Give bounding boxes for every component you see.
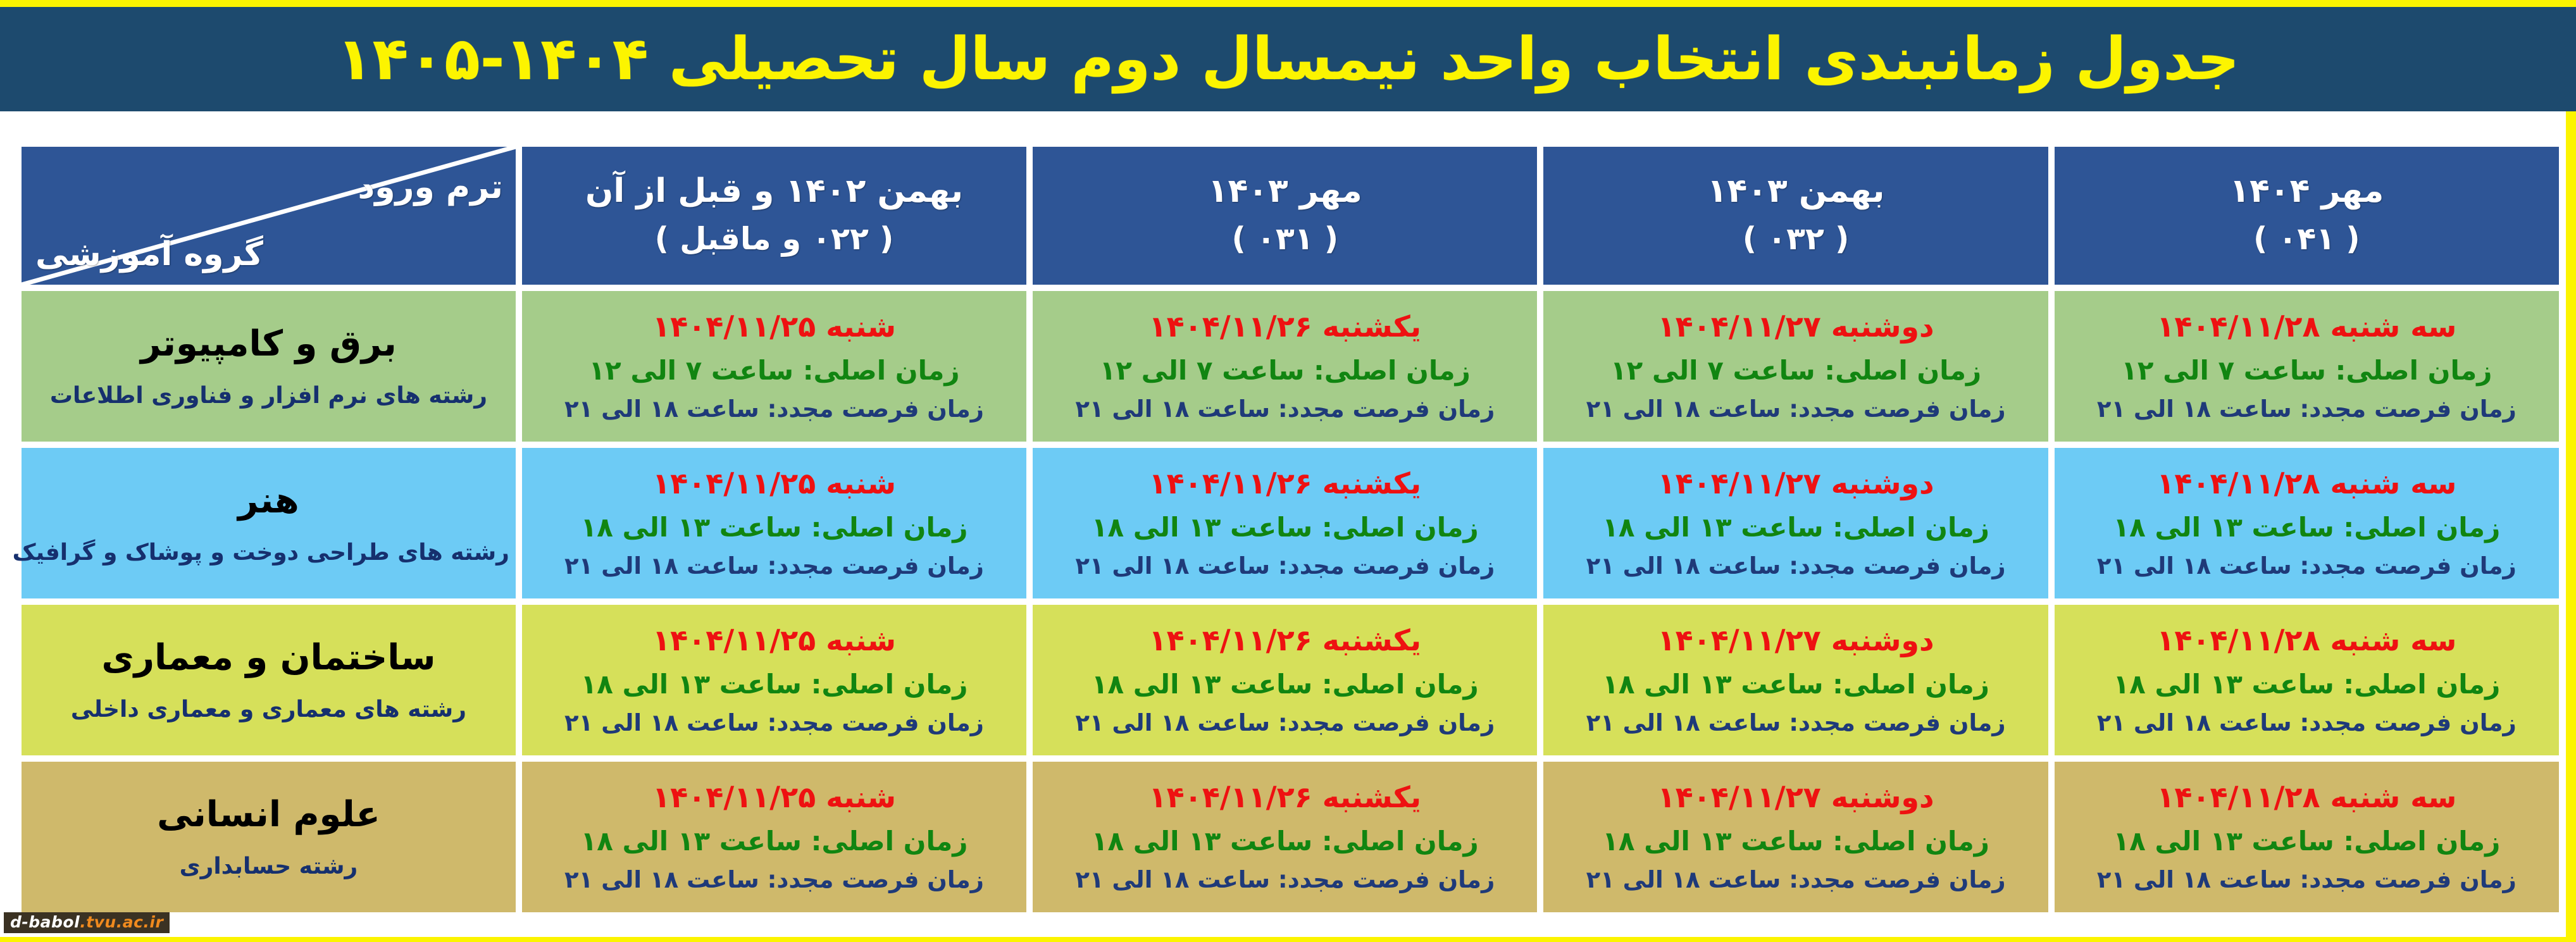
watermark-secondary: .tvu.ac.ir — [80, 913, 163, 931]
column-header-bahman-1402-and-before: بهمن ۱۴۰۲ و قبل از آن ( ۰۲۲ و ماقبل ) — [522, 147, 1026, 285]
row-label-subtitle: رشته های طراحی دوخت و پوشاک و گرافیک — [28, 538, 509, 567]
cell-date: شنبه ۱۴۰۴/۱۱/۲۵ — [527, 308, 1021, 346]
row-label-title: هنر — [28, 480, 509, 522]
table-row: سه شنبه ۱۴۰۴/۱۱/۲۸ زمان اصلی: ساعت ۱۳ ال… — [22, 448, 2559, 598]
row-label-electrical-computer: برق و کامپیوتر رشته های نرم افزار و فناو… — [22, 291, 516, 442]
schedule-table-container: مهر ۱۴۰۴ ( ۰۴۱ ) بهمن ۱۴۰۳ ( ۰۳۲ ) مهر ۱… — [15, 140, 2565, 936]
schedule-cell[interactable]: یکشنبه ۱۴۰۴/۱۱/۲۶ زمان اصلی: ساعت ۱۳ الی… — [1033, 762, 1537, 912]
row-label-subtitle: رشته حسابداری — [28, 852, 509, 881]
row-label-title: برق و کامپیوتر — [28, 323, 509, 365]
column-header-mehr-1403: مهر ۱۴۰۳ ( ۰۳۱ ) — [1033, 147, 1537, 285]
schedule-cell[interactable]: سه شنبه ۱۴۰۴/۱۱/۲۸ زمان اصلی: ساعت ۱۳ ال… — [2055, 448, 2559, 598]
cell-retry-time: زمان فرصت مجدد: ساعت ۱۸ الی ۲۱ — [2060, 708, 2554, 738]
row-label-subtitle: رشته های نرم افزار و فناوری اطلاعات — [28, 381, 509, 410]
cell-retry-time: زمان فرصت مجدد: ساعت ۱۸ الی ۲۱ — [1548, 708, 2043, 738]
cell-main-time: زمان اصلی: ساعت ۱۳ الی ۱۸ — [1038, 511, 1532, 545]
watermark-primary: d-babol — [10, 913, 80, 931]
cell-date: یکشنبه ۱۴۰۴/۱۱/۲۶ — [1038, 465, 1532, 503]
schedule-cell[interactable]: سه شنبه ۱۴۰۴/۱۱/۲۸ زمان اصلی: ساعت ۱۳ ال… — [2055, 762, 2559, 912]
cell-main-time: زمان اصلی: ساعت ۱۳ الی ۱۸ — [527, 824, 1021, 859]
corner-header-cell: ترم ورود گروه آموزشی — [22, 147, 516, 285]
table-body: سه شنبه ۱۴۰۴/۱۱/۲۸ زمان اصلی: ساعت ۷ الی… — [22, 291, 2559, 912]
cell-retry-time: زمان فرصت مجدد: ساعت ۱۸ الی ۲۱ — [527, 708, 1021, 738]
cell-main-time: زمان اصلی: ساعت ۷ الی ۱۲ — [1038, 354, 1532, 388]
corner-label-department: گروه آموزشی — [35, 235, 263, 273]
cell-retry-time: زمان فرصت مجدد: ساعت ۱۸ الی ۲۱ — [527, 865, 1021, 895]
row-label-construction-architecture: ساختمان و معماری رشته های معماری و معمار… — [22, 605, 516, 755]
cell-retry-time: زمان فرصت مجدد: ساعت ۱۸ الی ۲۱ — [1038, 865, 1532, 895]
column-header-main: بهمن ۱۴۰۳ — [1543, 171, 2048, 212]
cell-main-time: زمان اصلی: ساعت ۱۳ الی ۱۸ — [2060, 824, 2554, 859]
schedule-cell[interactable]: شنبه ۱۴۰۴/۱۱/۲۵ زمان اصلی: ساعت ۷ الی ۱۲… — [522, 291, 1026, 442]
corner-label-entry-term: ترم ورود — [358, 168, 503, 206]
cell-date: سه شنبه ۱۴۰۴/۱۱/۲۸ — [2060, 779, 2554, 817]
table-header: مهر ۱۴۰۴ ( ۰۴۱ ) بهمن ۱۴۰۳ ( ۰۳۲ ) مهر ۱… — [22, 147, 2559, 285]
right-accent-strip — [2566, 7, 2576, 942]
cell-date: یکشنبه ۱۴۰۴/۱۱/۲۶ — [1038, 622, 1532, 660]
cell-retry-time: زمان فرصت مجدد: ساعت ۱۸ الی ۲۱ — [1038, 394, 1532, 425]
schedule-table: مهر ۱۴۰۴ ( ۰۴۱ ) بهمن ۱۴۰۳ ( ۰۳۲ ) مهر ۱… — [15, 140, 2565, 919]
schedule-cell[interactable]: شنبه ۱۴۰۴/۱۱/۲۵ زمان اصلی: ساعت ۱۳ الی ۱… — [522, 605, 1026, 755]
cell-date: دوشنبه ۱۴۰۴/۱۱/۲۷ — [1548, 622, 2043, 660]
cell-date: شنبه ۱۴۰۴/۱۱/۲۵ — [527, 779, 1021, 817]
schedule-cell[interactable]: دوشنبه ۱۴۰۴/۱۱/۲۷ زمان اصلی: ساعت ۱۳ الی… — [1543, 762, 2048, 912]
schedule-cell[interactable]: شنبه ۱۴۰۴/۱۱/۲۵ زمان اصلی: ساعت ۱۳ الی ۱… — [522, 762, 1026, 912]
site-watermark: d-babol.tvu.ac.ir — [4, 912, 170, 933]
table-row: سه شنبه ۱۴۰۴/۱۱/۲۸ زمان اصلی: ساعت ۷ الی… — [22, 291, 2559, 442]
column-header-code: ( ۰۳۲ ) — [1543, 218, 2048, 260]
bottom-accent-strip — [0, 937, 2576, 942]
page-title: جدول زمانبندی انتخاب واحد نیمسال دوم سال… — [337, 28, 2239, 90]
schedule-cell[interactable]: دوشنبه ۱۴۰۴/۱۱/۲۷ زمان اصلی: ساعت ۱۳ الی… — [1543, 448, 2048, 598]
cell-retry-time: زمان فرصت مجدد: ساعت ۱۸ الی ۲۱ — [1548, 551, 2043, 581]
cell-main-time: زمان اصلی: ساعت ۱۳ الی ۱۸ — [527, 511, 1021, 545]
row-label-art: هنر رشته های طراحی دوخت و پوشاک و گرافیک — [22, 448, 516, 598]
cell-date: دوشنبه ۱۴۰۴/۱۱/۲۷ — [1548, 779, 2043, 817]
column-header-code: ( ۰۴۱ ) — [2055, 218, 2559, 260]
column-header-bahman-1403: بهمن ۱۴۰۳ ( ۰۳۲ ) — [1543, 147, 2048, 285]
cell-retry-time: زمان فرصت مجدد: ساعت ۱۸ الی ۲۱ — [2060, 394, 2554, 425]
cell-retry-time: زمان فرصت مجدد: ساعت ۱۸ الی ۲۱ — [2060, 551, 2554, 581]
cell-main-time: زمان اصلی: ساعت ۱۳ الی ۱۸ — [1038, 824, 1532, 859]
column-header-main: بهمن ۱۴۰۲ و قبل از آن — [522, 171, 1026, 212]
cell-date: یکشنبه ۱۴۰۴/۱۱/۲۶ — [1038, 308, 1532, 346]
cell-main-time: زمان اصلی: ساعت ۱۳ الی ۱۸ — [1548, 511, 2043, 545]
cell-main-time: زمان اصلی: ساعت ۱۳ الی ۱۸ — [2060, 511, 2554, 545]
schedule-cell[interactable]: یکشنبه ۱۴۰۴/۱۱/۲۶ زمان اصلی: ساعت ۷ الی … — [1033, 291, 1537, 442]
cell-retry-time: زمان فرصت مجدد: ساعت ۱۸ الی ۲۱ — [527, 551, 1021, 581]
schedule-cell[interactable]: سه شنبه ۱۴۰۴/۱۱/۲۸ زمان اصلی: ساعت ۷ الی… — [2055, 291, 2559, 442]
cell-date: سه شنبه ۱۴۰۴/۱۱/۲۸ — [2060, 308, 2554, 346]
cell-main-time: زمان اصلی: ساعت ۷ الی ۱۲ — [1548, 354, 2043, 388]
row-label-title: ساختمان و معماری — [28, 636, 509, 679]
cell-date: شنبه ۱۴۰۴/۱۱/۲۵ — [527, 622, 1021, 660]
row-label-subtitle: رشته های معماری و معماری داخلی — [28, 695, 509, 724]
schedule-cell[interactable]: یکشنبه ۱۴۰۴/۱۱/۲۶ زمان اصلی: ساعت ۱۳ الی… — [1033, 448, 1537, 598]
cell-retry-time: زمان فرصت مجدد: ساعت ۱۸ الی ۲۱ — [527, 394, 1021, 425]
cell-retry-time: زمان فرصت مجدد: ساعت ۱۸ الی ۲۱ — [2060, 865, 2554, 895]
cell-date: یکشنبه ۱۴۰۴/۱۱/۲۶ — [1038, 779, 1532, 817]
top-accent-strip — [0, 0, 2576, 7]
cell-main-time: زمان اصلی: ساعت ۱۳ الی ۱۸ — [1548, 824, 2043, 859]
cell-main-time: زمان اصلی: ساعت ۱۳ الی ۱۸ — [1548, 667, 2043, 702]
header-row: مهر ۱۴۰۴ ( ۰۴۱ ) بهمن ۱۴۰۳ ( ۰۳۲ ) مهر ۱… — [22, 147, 2559, 285]
cell-main-time: زمان اصلی: ساعت ۱۳ الی ۱۸ — [1038, 667, 1532, 702]
column-header-main: مهر ۱۴۰۴ — [2055, 171, 2559, 212]
cell-main-time: زمان اصلی: ساعت ۷ الی ۱۲ — [2060, 354, 2554, 388]
cell-main-time: زمان اصلی: ساعت ۷ الی ۱۲ — [527, 354, 1021, 388]
cell-main-time: زمان اصلی: ساعت ۱۳ الی ۱۸ — [2060, 667, 2554, 702]
cell-date: سه شنبه ۱۴۰۴/۱۱/۲۸ — [2060, 465, 2554, 503]
schedule-cell[interactable]: سه شنبه ۱۴۰۴/۱۱/۲۸ زمان اصلی: ساعت ۱۳ ال… — [2055, 605, 2559, 755]
schedule-cell[interactable]: یکشنبه ۱۴۰۴/۱۱/۲۶ زمان اصلی: ساعت ۱۳ الی… — [1033, 605, 1537, 755]
schedule-cell[interactable]: دوشنبه ۱۴۰۴/۱۱/۲۷ زمان اصلی: ساعت ۷ الی … — [1543, 291, 2048, 442]
row-label-humanities: علوم انسانی رشته حسابداری — [22, 762, 516, 912]
schedule-cell[interactable]: دوشنبه ۱۴۰۴/۱۱/۲۷ زمان اصلی: ساعت ۱۳ الی… — [1543, 605, 2048, 755]
schedule-cell[interactable]: شنبه ۱۴۰۴/۱۱/۲۵ زمان اصلی: ساعت ۱۳ الی ۱… — [522, 448, 1026, 598]
cell-date: سه شنبه ۱۴۰۴/۱۱/۲۸ — [2060, 622, 2554, 660]
cell-date: دوشنبه ۱۴۰۴/۱۱/۲۷ — [1548, 465, 2043, 503]
cell-retry-time: زمان فرصت مجدد: ساعت ۱۸ الی ۲۱ — [1038, 551, 1532, 581]
row-label-title: علوم انسانی — [28, 793, 509, 836]
table-row: سه شنبه ۱۴۰۴/۱۱/۲۸ زمان اصلی: ساعت ۱۳ ال… — [22, 762, 2559, 912]
cell-date: شنبه ۱۴۰۴/۱۱/۲۵ — [527, 465, 1021, 503]
cell-retry-time: زمان فرصت مجدد: ساعت ۱۸ الی ۲۱ — [1548, 394, 2043, 425]
cell-retry-time: زمان فرصت مجدد: ساعت ۱۸ الی ۲۱ — [1038, 708, 1532, 738]
cell-retry-time: زمان فرصت مجدد: ساعت ۱۸ الی ۲۱ — [1548, 865, 2043, 895]
cell-date: دوشنبه ۱۴۰۴/۱۱/۲۷ — [1548, 308, 2043, 346]
page-banner: جدول زمانبندی انتخاب واحد نیمسال دوم سال… — [0, 7, 2576, 111]
column-header-code: ( ۰۳۱ ) — [1033, 218, 1537, 260]
column-header-mehr-1404: مهر ۱۴۰۴ ( ۰۴۱ ) — [2055, 147, 2559, 285]
column-header-code: ( ۰۲۲ و ماقبل ) — [522, 218, 1026, 260]
table-row: سه شنبه ۱۴۰۴/۱۱/۲۸ زمان اصلی: ساعت ۱۳ ال… — [22, 605, 2559, 755]
cell-main-time: زمان اصلی: ساعت ۱۳ الی ۱۸ — [527, 667, 1021, 702]
column-header-main: مهر ۱۴۰۳ — [1033, 171, 1537, 212]
